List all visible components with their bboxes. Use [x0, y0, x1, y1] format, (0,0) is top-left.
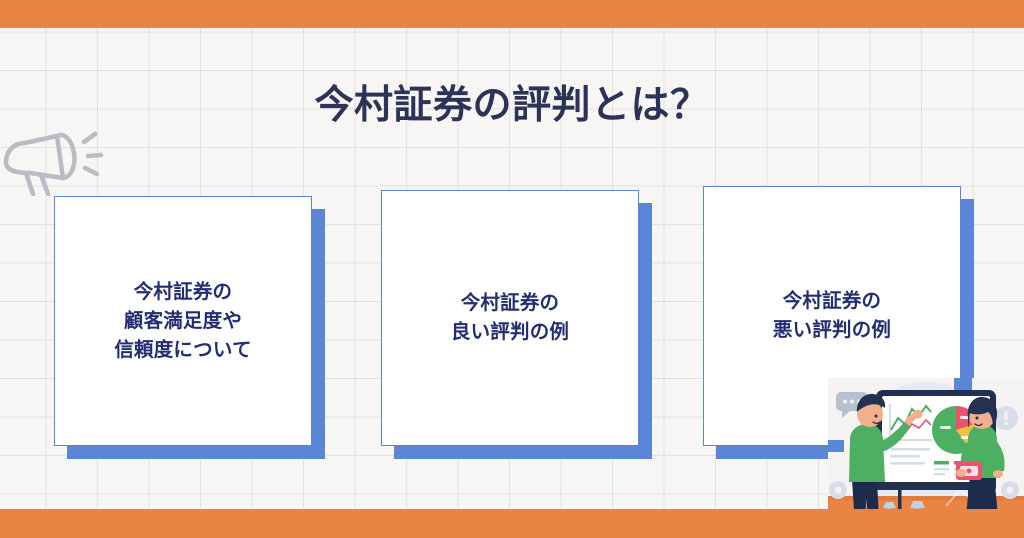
top-accent-bar: [0, 0, 1024, 28]
info-card-1[interactable]: 今村証券の 顧客満足度や 信頼度について: [54, 196, 312, 446]
card-text: 今村証券の 悪い評判の例: [773, 287, 891, 345]
card-body: 今村証券の 顧客満足度や 信頼度について: [54, 196, 312, 446]
card-text: 今村証券の 良い評判の例: [451, 289, 569, 347]
card-text: 今村証券の 顧客満足度や 信頼度について: [114, 278, 251, 365]
bottom-accent-bar: [0, 509, 1024, 538]
info-card-2[interactable]: 今村証券の 良い評判の例: [381, 190, 639, 446]
megaphone-icon: [2, 122, 106, 196]
card-body: 今村証券の 良い評判の例: [381, 190, 639, 446]
page-title: 今村証券の評判とは？: [0, 74, 1024, 130]
slide-canvas: 今村証券の評判とは？ 今村証券の 顧客満足度や 信頼度について 今村証券の 良い…: [0, 0, 1024, 538]
